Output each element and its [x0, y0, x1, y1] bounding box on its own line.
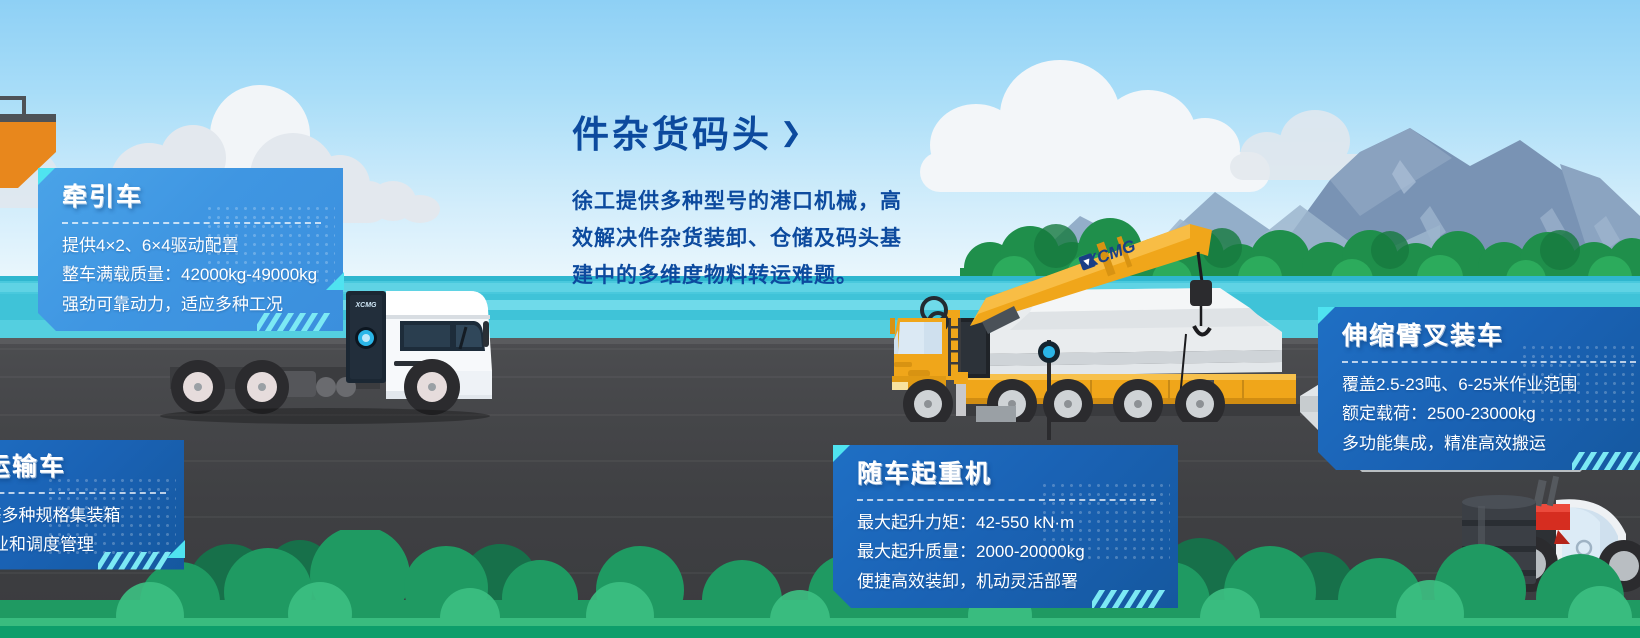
card-corner-accent-tractor — [326, 272, 344, 290]
tractor-shadow — [160, 408, 490, 424]
description-line-2: 效解决件杂货装卸、仓储及码头基 — [572, 221, 972, 258]
info-card-truck-mounted-crane[interactable]: 随车起重机 最大起升力矩：42-550 kN·m 最大起升质量：2000-200… — [833, 445, 1178, 608]
info-card-flatbed-transporter[interactable]: 平运输车 5尺等多种规格集装箱 组作业和调度管理 — [0, 440, 184, 570]
foreground-bushes — [0, 530, 1640, 638]
card-line-1: 5尺等多种规格集装箱 — [0, 503, 166, 529]
card-divider — [0, 492, 166, 494]
svg-text:XCMG: XCMG — [355, 302, 378, 309]
illustration-canvas: XCMG — [0, 0, 1640, 638]
card-line-2: 额定载荷：2500-23000kg — [1342, 401, 1636, 427]
card-line-1: 提供4×2、6×4驱动配置 — [62, 233, 321, 259]
card-title: 牵引车 — [62, 184, 321, 212]
page-title: 件杂货码头❯ — [572, 104, 972, 158]
description-line-3: 建中的多维度物料转运难题。 — [572, 258, 972, 295]
card-line-2: 最大起升质量：2000-20000kg — [857, 539, 1156, 565]
card-divider — [1342, 361, 1636, 363]
page-description: 徐工提供多种型号的港口机械，高 效解决件杂货装卸、仓储及码头基 建中的多维度物料… — [572, 184, 972, 294]
card-stripes-decoration — [257, 313, 343, 331]
info-card-telescopic-handler[interactable]: 伸缩臂叉装车 覆盖2.5-23吨、6-25米作业范围 额定载荷：2500-230… — [1318, 307, 1640, 470]
card-title: 随车起重机 — [857, 461, 1156, 489]
headline-block: 件杂货码头❯ 徐工提供多种型号的港口机械，高 效解决件杂货装卸、仓储及码头基 建… — [572, 104, 972, 294]
card-stripes-decoration — [1092, 590, 1178, 608]
card-line-1: 覆盖2.5-23吨、6-25米作业范围 — [1342, 372, 1636, 398]
card-divider — [857, 499, 1156, 501]
card-divider — [62, 222, 321, 224]
card-title: 平运输车 — [0, 454, 166, 482]
card-title: 伸缩臂叉装车 — [1342, 323, 1636, 351]
ground-marker-dot-inner — [1043, 346, 1055, 358]
page-title-text: 件杂货码头 — [572, 114, 772, 155]
card-corner-accent-flatbed — [167, 540, 185, 558]
info-card-tractor-truck[interactable]: 牵引车 提供4×2、6×4驱动配置 整车满载质量：42000kg-49000kg… — [38, 168, 343, 331]
card-stripes-decoration — [1572, 452, 1640, 470]
card-line-1: 最大起升力矩：42-550 kN·m — [857, 510, 1156, 536]
description-line-1: 徐工提供多种型号的港口机械，高 — [572, 184, 972, 221]
card-line-2: 整车满载质量：42000kg-49000kg — [62, 262, 321, 288]
chevron-right-icon: ❯ — [780, 117, 805, 147]
